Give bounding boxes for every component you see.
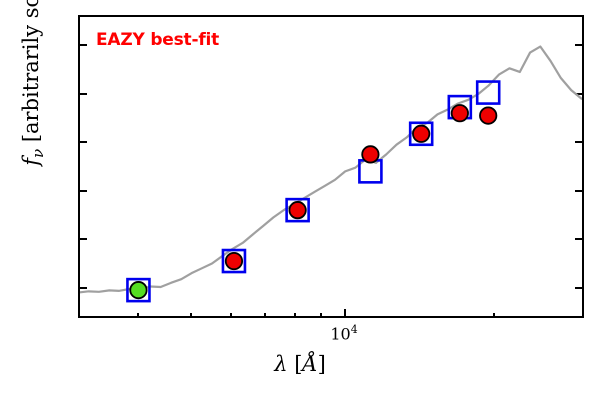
x-tick-label-10000: 104 — [314, 325, 374, 342]
sed-figure: fν [arbitrarily scaled] λ [Å] 10 8 6 4 2… — [0, 0, 600, 400]
x-axis-title: λ [Å] — [0, 352, 600, 376]
axes-frame — [78, 15, 584, 318]
y-axis-symbol: f — [19, 158, 43, 166]
y-axis-subscript: ν — [29, 149, 47, 158]
x-tick-label-exponent: 4 — [351, 323, 358, 336]
y-axis-title: fν [arbitrarily scaled] — [19, 0, 47, 194]
x-tick-label-mantissa: 10 — [330, 324, 350, 343]
eazy-bestfit-annotation: EAZY best-fit — [96, 30, 219, 50]
y-axis-title-rest: [arbitrarily scaled] — [19, 0, 43, 149]
